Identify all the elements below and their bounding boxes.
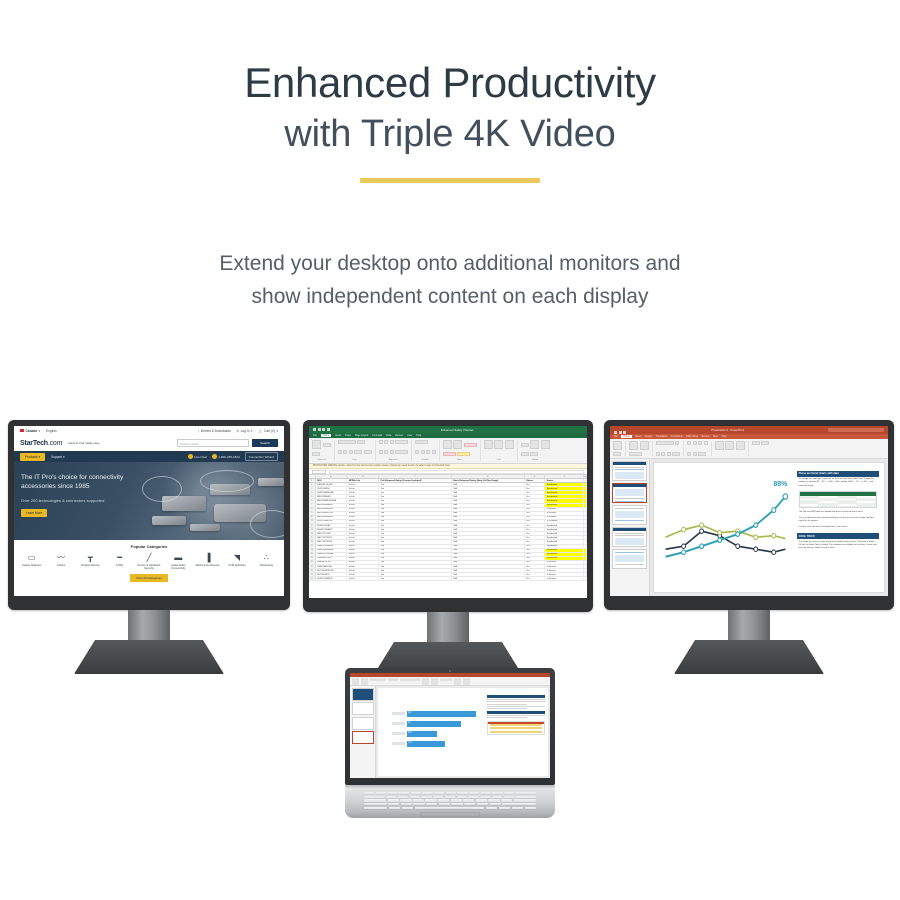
col-A[interactable]: A bbox=[316, 475, 348, 478]
cell-blank[interactable] bbox=[584, 487, 587, 490]
cell-mfr[interactable]: In-Life bbox=[347, 504, 379, 507]
cell-full[interactable]: Yes bbox=[379, 540, 452, 543]
slide-thumbnail[interactable] bbox=[612, 461, 647, 481]
live-chat-button[interactable]: Live Chat bbox=[188, 454, 207, 459]
cell-videos[interactable]: Yes bbox=[525, 577, 546, 580]
cell-full[interactable]: Yes bbox=[379, 536, 452, 539]
cell-mfr[interactable]: In-Life bbox=[347, 536, 379, 539]
header-videos: Videos bbox=[525, 479, 546, 482]
cell-blank[interactable] bbox=[584, 516, 587, 519]
cell-sku[interactable]: USBC2HDVGA bbox=[316, 565, 348, 568]
cell-videos[interactable]: Yes bbox=[525, 573, 546, 576]
cell-full[interactable]: Yes bbox=[379, 520, 452, 523]
cell-basic[interactable]: N/A bbox=[452, 508, 525, 511]
cell-blank[interactable] bbox=[584, 536, 587, 539]
row-number[interactable]: 12 bbox=[309, 524, 316, 527]
cell-blank[interactable] bbox=[584, 549, 587, 552]
cell-mfr[interactable]: In-Life bbox=[347, 483, 379, 486]
tab-animations[interactable]: Animations bbox=[671, 435, 683, 438]
row-number[interactable]: 9 bbox=[309, 512, 316, 515]
cell-sku[interactable]: MSTCDP122DP bbox=[316, 536, 348, 539]
tab-help[interactable]: Help bbox=[416, 434, 421, 437]
cell-full[interactable]: Yes bbox=[379, 557, 452, 560]
cell-sku[interactable]: MK1KDMDC2G5 bbox=[316, 512, 348, 515]
cell-status[interactable]: In Review bbox=[545, 516, 584, 519]
cell-full[interactable]: Yes bbox=[379, 491, 452, 494]
cell-basic[interactable]: N/A bbox=[452, 573, 525, 576]
bar-value: 4.5 bbox=[408, 741, 411, 744]
cell-status[interactable]: Syndicated bbox=[545, 504, 584, 507]
cell-full[interactable]: Yes bbox=[379, 553, 452, 556]
cell-blank[interactable] bbox=[584, 569, 587, 572]
cell-basic[interactable]: N/A bbox=[452, 549, 525, 552]
cell-basic[interactable]: N/A bbox=[452, 487, 525, 490]
nav-support[interactable]: Support ▾ bbox=[51, 455, 65, 459]
cell-videos[interactable]: Yes bbox=[525, 528, 546, 531]
cell-status[interactable]: Syndicated bbox=[545, 483, 584, 486]
spreadsheet-grid[interactable]: 1 SKU MFR/In-Life Full Enhanced Safety (… bbox=[309, 479, 587, 581]
cell-mfr[interactable]: In-Life bbox=[347, 549, 379, 552]
laptop-keyboard[interactable] bbox=[364, 792, 536, 809]
site-logo[interactable]: StarTech.com bbox=[20, 440, 62, 447]
cell-blank[interactable] bbox=[584, 499, 587, 502]
ribbon-group-font[interactable] bbox=[656, 441, 685, 456]
cell-videos[interactable]: Yes bbox=[525, 504, 546, 507]
cell-blank[interactable] bbox=[584, 545, 587, 548]
quick-access-toolbar[interactable] bbox=[313, 428, 330, 431]
cell-basic[interactable]: N/A bbox=[452, 561, 525, 564]
ribbon-group-editing[interactable] bbox=[752, 441, 773, 456]
cell-status[interactable]: Syndicated bbox=[545, 536, 584, 539]
cell-basic[interactable]: N/A bbox=[452, 553, 525, 556]
slide-thumbnail[interactable] bbox=[352, 717, 374, 730]
cell-status[interactable]: Syndicated bbox=[545, 553, 584, 556]
cell-blank[interactable] bbox=[584, 524, 587, 527]
ribbon-group-slides[interactable] bbox=[629, 441, 653, 456]
cell-blank[interactable] bbox=[584, 520, 587, 523]
cell-blank[interactable] bbox=[584, 553, 587, 556]
tab-view[interactable]: View bbox=[713, 435, 718, 438]
cell-blank[interactable] bbox=[584, 495, 587, 498]
cell-blank[interactable] bbox=[584, 491, 587, 494]
ribbon-group-clipboard[interactable]: Clipboard bbox=[312, 440, 335, 461]
cell-videos[interactable]: Yes bbox=[525, 495, 546, 498]
cell-videos[interactable]: Yes bbox=[525, 557, 546, 560]
row-number[interactable]: 16 bbox=[309, 540, 316, 543]
cell-status[interactable]: Syndicated bbox=[545, 499, 584, 502]
ribbon-group-paragraph[interactable] bbox=[687, 441, 712, 456]
cell-videos[interactable]: Yes bbox=[525, 532, 546, 535]
cell-status[interactable]: In Review bbox=[545, 508, 584, 511]
cell-mfr[interactable]: In-Life bbox=[347, 487, 379, 490]
cell-mfr[interactable]: In-Life bbox=[347, 569, 379, 572]
cell-blank[interactable] bbox=[584, 504, 587, 507]
hero-cta-button[interactable]: Learn More bbox=[21, 509, 47, 517]
laptop-slide-pane[interactable] bbox=[350, 686, 376, 778]
cell-full[interactable]: Yes bbox=[379, 561, 452, 564]
cell-sku[interactable]: DKT30CHPD bbox=[316, 573, 348, 576]
tab-slide-show[interactable]: Slide Show bbox=[686, 435, 698, 438]
cell-mfr[interactable]: In-Life bbox=[347, 508, 379, 511]
slide-thumbnail[interactable] bbox=[612, 527, 647, 547]
category-item[interactable]: ◥KVM Switches bbox=[222, 553, 251, 571]
cell-full[interactable]: Yes bbox=[379, 487, 452, 490]
region-selector[interactable]: Canada ▾ bbox=[20, 429, 40, 433]
cell-basic[interactable]: N/A bbox=[452, 499, 525, 502]
ribbon-group-font[interactable]: Font bbox=[338, 440, 376, 461]
cell-blank[interactable] bbox=[584, 561, 587, 564]
cell-full[interactable]: Yes bbox=[379, 532, 452, 535]
slide-thumbnail[interactable] bbox=[612, 549, 647, 569]
cell-status[interactable]: In Progress bbox=[545, 520, 584, 523]
cell-full[interactable]: Yes bbox=[379, 524, 452, 527]
cell-sku[interactable]: MK1KDMBDHG4SA bbox=[316, 499, 348, 502]
row-number[interactable]: 5 bbox=[309, 495, 316, 498]
tab-file[interactable]: File bbox=[313, 434, 317, 437]
tab-draw[interactable]: Draw bbox=[345, 434, 351, 437]
cell-full[interactable]: Yes bbox=[379, 528, 452, 531]
connection-wizard-button[interactable]: Connection Wizard bbox=[245, 452, 278, 461]
col-C[interactable]: C bbox=[379, 475, 452, 478]
cell-blank[interactable] bbox=[584, 483, 587, 486]
row-number[interactable]: 13 bbox=[309, 528, 316, 531]
ribbon-group-clipboard[interactable] bbox=[613, 441, 626, 456]
cell-videos[interactable]: Yes bbox=[525, 487, 546, 490]
laptop-ribbon[interactable] bbox=[350, 677, 550, 686]
cell-blank[interactable] bbox=[584, 573, 587, 576]
row-number[interactable]: 24 bbox=[309, 573, 316, 576]
row-number[interactable]: 8 bbox=[309, 508, 316, 511]
row-number[interactable]: 15 bbox=[309, 536, 316, 539]
cell-status[interactable]: Syndicated bbox=[545, 487, 584, 490]
nav-products[interactable]: Products ▾ bbox=[20, 453, 45, 461]
row-number[interactable]: 6 bbox=[309, 499, 316, 502]
cell-sku[interactable]: DKF1KD3B4GW8 bbox=[316, 491, 348, 494]
cell-blank[interactable] bbox=[584, 577, 587, 580]
cell-basic[interactable]: N/A bbox=[452, 565, 525, 568]
cell-sku[interactable]: 5400LB1CF-0417 bbox=[316, 483, 348, 486]
search-input[interactable]: Product search bbox=[177, 439, 249, 447]
cell-videos[interactable]: Yes bbox=[525, 569, 546, 572]
cell-videos[interactable]: Yes bbox=[525, 483, 546, 486]
tab-data[interactable]: Data bbox=[386, 434, 391, 437]
row-number[interactable]: 7 bbox=[309, 504, 316, 507]
cell-sku[interactable]: DKT30CHVSDPD bbox=[316, 569, 348, 572]
cell-mfr[interactable]: In-Life bbox=[347, 516, 379, 519]
embedded-excel-preview[interactable] bbox=[799, 491, 878, 507]
cell-full[interactable]: Yes bbox=[379, 499, 452, 502]
cell-sku[interactable]: MSTCDP123DP bbox=[316, 540, 348, 543]
cell-mfr[interactable]: In-Life bbox=[347, 528, 379, 531]
cell-sku[interactable]: DK3KDLS0A1 bbox=[316, 524, 348, 527]
cell-sku[interactable]: USB32DPPRO bbox=[316, 561, 348, 564]
cell-sku[interactable]: MK1KDMB4D1 bbox=[316, 495, 348, 498]
lock-icon: ╱ bbox=[134, 553, 163, 563]
tab-review[interactable]: Review bbox=[395, 434, 403, 437]
cell-sku[interactable]: MK1KDMDB3G3 bbox=[316, 508, 348, 511]
search-box[interactable] bbox=[828, 428, 884, 433]
cell-blank[interactable] bbox=[584, 532, 587, 535]
search-button[interactable]: Search bbox=[252, 439, 278, 447]
category-item[interactable]: ━KVMs bbox=[105, 553, 134, 571]
cell-status[interactable]: Syndicated bbox=[545, 528, 584, 531]
ribbon-group-number[interactable]: Number bbox=[415, 440, 440, 461]
laptop-trackpad[interactable] bbox=[420, 812, 480, 817]
slide-thumbnail[interactable] bbox=[612, 505, 647, 525]
category-label: Racks & Enclosures bbox=[193, 564, 222, 567]
cell-basic[interactable]: N/A bbox=[452, 495, 525, 498]
cell-full[interactable]: Yes bbox=[379, 483, 452, 486]
cell-full[interactable]: Yes bbox=[379, 573, 452, 576]
cell-videos[interactable]: Yes bbox=[525, 491, 546, 494]
cell-mfr[interactable]: In-Life bbox=[347, 524, 379, 527]
cell-status[interactable]: Syndicated bbox=[545, 532, 584, 535]
cell-sku[interactable]: DK30C2DAGPD bbox=[316, 577, 348, 580]
cell-full[interactable]: Yes bbox=[379, 495, 452, 498]
header-status: Status bbox=[545, 479, 584, 482]
cell-full[interactable]: Yes bbox=[379, 565, 452, 568]
cell-basic[interactable]: N/A bbox=[452, 504, 525, 507]
bar-chart[interactable]: 8.2 11 5.6 bbox=[392, 711, 480, 751]
category-item[interactable]: ╱Device & Hardware Security bbox=[134, 553, 163, 571]
col-F[interactable]: F bbox=[545, 475, 584, 478]
cell-full[interactable]: Yes bbox=[379, 516, 452, 519]
cell-status[interactable]: Syndicated bbox=[545, 557, 584, 560]
cell-basic[interactable]: N/A bbox=[452, 540, 525, 543]
row-number[interactable]: 20 bbox=[309, 557, 316, 560]
cell-full[interactable]: Yes bbox=[379, 512, 452, 515]
row-number[interactable]: 10 bbox=[309, 516, 316, 519]
name-box[interactable] bbox=[312, 470, 326, 474]
cell-status[interactable]: In Review bbox=[545, 569, 584, 572]
cell-basic[interactable]: N/A bbox=[452, 557, 525, 560]
cell-videos[interactable]: Yes bbox=[525, 549, 546, 552]
cell-blank[interactable] bbox=[584, 540, 587, 543]
tab-formulas[interactable]: Formulas bbox=[372, 434, 382, 437]
cell-videos[interactable]: Yes bbox=[525, 499, 546, 502]
row-number[interactable]: 2 bbox=[309, 483, 316, 486]
cell-videos[interactable]: Yes bbox=[525, 524, 546, 527]
cell-sku[interactable]: MK1KDMDMC37 bbox=[316, 516, 348, 519]
cell-blank[interactable] bbox=[584, 508, 587, 511]
cell-blank[interactable] bbox=[584, 557, 587, 560]
cell-status[interactable]: Syndicated bbox=[545, 549, 584, 552]
tab-insert[interactable]: Insert bbox=[635, 435, 641, 438]
cart-link[interactable]: 🛒 Cart (0) ▾ bbox=[259, 429, 278, 433]
category-item[interactable]: ▬Audio/Video Connectivity bbox=[164, 553, 193, 571]
cell-sku[interactable]: DK4KDC2MB05 bbox=[316, 528, 348, 531]
slide-canvas[interactable]: 88% These are Excel charts with data To … bbox=[650, 459, 888, 596]
cell-mfr[interactable]: In-Life bbox=[347, 553, 379, 556]
cell-basic[interactable]: N/A bbox=[452, 512, 525, 515]
excel-document-name: Enhanced Safety Checker bbox=[332, 428, 584, 432]
category-item[interactable]: ┳Display Mounts bbox=[76, 553, 105, 571]
cell-status[interactable]: Syndicated bbox=[545, 545, 584, 548]
slide-thumbnail-selected[interactable] bbox=[352, 731, 374, 744]
cell-basic[interactable]: N/A bbox=[452, 528, 525, 531]
category-item[interactable]: ▐Racks & Enclosures bbox=[193, 553, 222, 571]
slide-thumbnail[interactable] bbox=[352, 702, 374, 715]
tab-home[interactable]: Home bbox=[321, 434, 331, 437]
cell-basic[interactable]: N/A bbox=[452, 483, 525, 486]
ribbon-group-cells[interactable]: Cells bbox=[484, 440, 518, 461]
monitor-right-base bbox=[674, 640, 824, 674]
cell-full[interactable]: Yes bbox=[379, 577, 452, 580]
ribbon-group-alignment[interactable]: Alignment bbox=[379, 440, 413, 461]
phone-label: 1-800-265-1844 bbox=[218, 455, 239, 459]
tab-home[interactable]: Home bbox=[621, 435, 631, 438]
cell-sku[interactable]: CFX1544F58 bbox=[316, 487, 348, 490]
cell-sku[interactable]: USBC2HDMM2M bbox=[316, 549, 348, 552]
corner-cell[interactable] bbox=[309, 475, 316, 478]
slide-thumbnail[interactable] bbox=[352, 688, 374, 701]
row-number[interactable]: 17 bbox=[309, 545, 316, 548]
category-item[interactable]: ▭Laptop Adapters bbox=[17, 553, 46, 571]
tab-view[interactable]: View bbox=[407, 434, 412, 437]
col-D[interactable]: D bbox=[452, 475, 525, 478]
view-all-categories-button[interactable]: View All Categories bbox=[130, 574, 168, 582]
cell-basic[interactable]: N/A bbox=[452, 516, 525, 519]
tab-design[interactable]: Design bbox=[645, 435, 652, 438]
cell-mfr[interactable]: In-Life bbox=[347, 561, 379, 564]
cell-blank[interactable] bbox=[584, 565, 587, 568]
tool-tip-body: To change the series or color of the lin… bbox=[797, 539, 880, 551]
category-item[interactable]: ∴Networking bbox=[252, 553, 281, 571]
cell-sku[interactable]: USBCDP2DPMM bbox=[316, 553, 348, 556]
cell-videos[interactable]: Yes bbox=[525, 516, 546, 519]
cell-videos[interactable]: Yes bbox=[525, 536, 546, 539]
cell-full[interactable]: Yes bbox=[379, 508, 452, 511]
row-number[interactable]: 11 bbox=[309, 520, 316, 523]
cell-status[interactable]: In Review bbox=[545, 577, 584, 580]
login-link[interactable]: ⎆ Log In ▾ bbox=[237, 429, 253, 433]
cell-mfr[interactable]: In-Life bbox=[347, 532, 379, 535]
cell-status[interactable]: In Review bbox=[545, 512, 584, 515]
cell-sku[interactable]: DK2LCDMK2VK bbox=[316, 520, 348, 523]
cell-sku[interactable]: MK1KDMDA2G1 bbox=[316, 504, 348, 507]
cell-mfr[interactable]: In-Life bbox=[347, 573, 379, 576]
cell-status[interactable]: In Review bbox=[545, 561, 584, 564]
row-number[interactable]: 18 bbox=[309, 549, 316, 552]
cell-sku[interactable]: USBC2DPMM2M bbox=[316, 545, 348, 548]
tab-transitions[interactable]: Transitions bbox=[656, 435, 668, 438]
cell-mfr[interactable]: In-Life bbox=[347, 540, 379, 543]
phone-button[interactable]: 1-800-265-1844 bbox=[212, 454, 240, 459]
cell-videos[interactable]: Yes bbox=[525, 512, 546, 515]
cell-basic[interactable]: N/A bbox=[452, 524, 525, 527]
row-number[interactable]: 19 bbox=[309, 553, 316, 556]
col-G[interactable]: G bbox=[584, 475, 587, 478]
cell-videos[interactable]: Yes bbox=[525, 520, 546, 523]
cell-status[interactable]: Syndicated bbox=[545, 491, 584, 494]
row-number[interactable]: 14 bbox=[309, 532, 316, 535]
row-number[interactable]: 23 bbox=[309, 569, 316, 572]
row-number[interactable]: 21 bbox=[309, 561, 316, 564]
cell-basic[interactable]: N/A bbox=[452, 545, 525, 548]
cell-status[interactable]: Syndicated bbox=[545, 540, 584, 543]
cell-mfr[interactable]: In-Life bbox=[347, 565, 379, 568]
laptop-slide-canvas[interactable]: 8.2 11 5.6 bbox=[376, 686, 550, 778]
row-number[interactable]: 22 bbox=[309, 565, 316, 568]
line-chart[interactable] bbox=[663, 486, 792, 576]
ribbon-group-drawing[interactable] bbox=[715, 441, 749, 456]
cell-mfr[interactable]: In-Life bbox=[347, 491, 379, 494]
excel-ribbon: Clipboard Font Alignment bbox=[309, 438, 587, 464]
cell-basic[interactable]: N/A bbox=[452, 569, 525, 572]
cell-mfr[interactable]: In-Life bbox=[347, 545, 379, 548]
cell-basic[interactable]: N/A bbox=[452, 520, 525, 523]
tab-review[interactable]: Review bbox=[702, 435, 710, 438]
cell-blank[interactable] bbox=[584, 528, 587, 531]
cell-full[interactable]: Yes bbox=[379, 504, 452, 507]
cell-mfr[interactable]: In-Life bbox=[347, 512, 379, 515]
cell-blank[interactable] bbox=[584, 512, 587, 515]
cell-full[interactable]: Yes bbox=[379, 569, 452, 572]
table-row[interactable]: 25DK30C2DAGPDIn-LifeYesN/AYesIn Review bbox=[309, 577, 587, 581]
login-label: Log In bbox=[241, 429, 250, 433]
cell-basic[interactable]: N/A bbox=[452, 577, 525, 580]
laptop-powerpoint-app: 8.2 11 5.6 bbox=[350, 673, 550, 778]
cell-basic[interactable]: N/A bbox=[452, 532, 525, 535]
category-item[interactable]: 〰Cables bbox=[46, 553, 75, 571]
row-number[interactable]: 4 bbox=[309, 491, 316, 494]
cell-sku[interactable]: USB32HD2DVI bbox=[316, 557, 348, 560]
slide-thumbnail-pane[interactable] bbox=[610, 459, 650, 596]
formula-input[interactable] bbox=[329, 470, 584, 474]
bar-row: 4.5 bbox=[392, 741, 480, 747]
cell-videos[interactable]: Yes bbox=[525, 565, 546, 568]
ribbon-group-styles[interactable]: Styles bbox=[443, 440, 481, 461]
tab-page-layout[interactable]: Page Layout bbox=[355, 434, 368, 437]
drivers-downloads-link[interactable]: ⤓ Drivers & Downloads bbox=[198, 429, 231, 433]
cell-videos[interactable]: Yes bbox=[525, 540, 546, 543]
row-number[interactable]: 3 bbox=[309, 487, 316, 490]
col-B[interactable]: B bbox=[347, 475, 379, 478]
language-selector[interactable]: English bbox=[46, 429, 56, 433]
cell-full[interactable]: Yes bbox=[379, 545, 452, 548]
tab-insert[interactable]: Insert bbox=[335, 434, 341, 437]
row-number[interactable]: 25 bbox=[309, 577, 316, 580]
cell-videos[interactable]: Yes bbox=[525, 508, 546, 511]
cell-sku[interactable]: MSTDP123DP bbox=[316, 532, 348, 535]
cell-mfr[interactable]: In-Life bbox=[347, 499, 379, 502]
cell-mfr[interactable]: In-Life bbox=[347, 495, 379, 498]
cell-videos[interactable]: Yes bbox=[525, 545, 546, 548]
cell-mfr[interactable]: In-Life bbox=[347, 557, 379, 560]
ribbon-group-editing[interactable]: Editing bbox=[521, 440, 553, 461]
cell-basic[interactable]: N/A bbox=[452, 536, 525, 539]
cell-mfr[interactable]: In-Life bbox=[347, 520, 379, 523]
monitor-left-screen: Canada ▾ English ⤓ Drivers & Downloads ⎆ bbox=[14, 426, 284, 596]
cell-videos[interactable]: Yes bbox=[525, 561, 546, 564]
tab-file[interactable]: File bbox=[614, 435, 618, 438]
cell-status[interactable]: In Review bbox=[545, 565, 584, 568]
cell-status[interactable]: Syndicated bbox=[545, 495, 584, 498]
col-E[interactable]: E bbox=[525, 475, 546, 478]
cell-mfr[interactable]: In-Life bbox=[347, 577, 379, 580]
cell-status[interactable]: In Review bbox=[545, 573, 584, 576]
monitor-right-bezel: Presentation1 - PowerPoint File Home Ins… bbox=[604, 420, 894, 610]
tab-help[interactable]: Help bbox=[722, 435, 727, 438]
laptop-workspace: 8.2 11 5.6 bbox=[350, 686, 550, 778]
cell-videos[interactable]: Yes bbox=[525, 553, 546, 556]
excel-app: Enhanced Safety Checker File Home Insert… bbox=[309, 426, 587, 598]
cell-full[interactable]: Yes bbox=[379, 549, 452, 552]
header-sku: SKU bbox=[316, 479, 348, 482]
cell-status[interactable]: Syndicated bbox=[545, 524, 584, 527]
cell-basic[interactable]: N/A bbox=[452, 491, 525, 494]
slide-thumbnail-selected[interactable] bbox=[612, 483, 647, 503]
